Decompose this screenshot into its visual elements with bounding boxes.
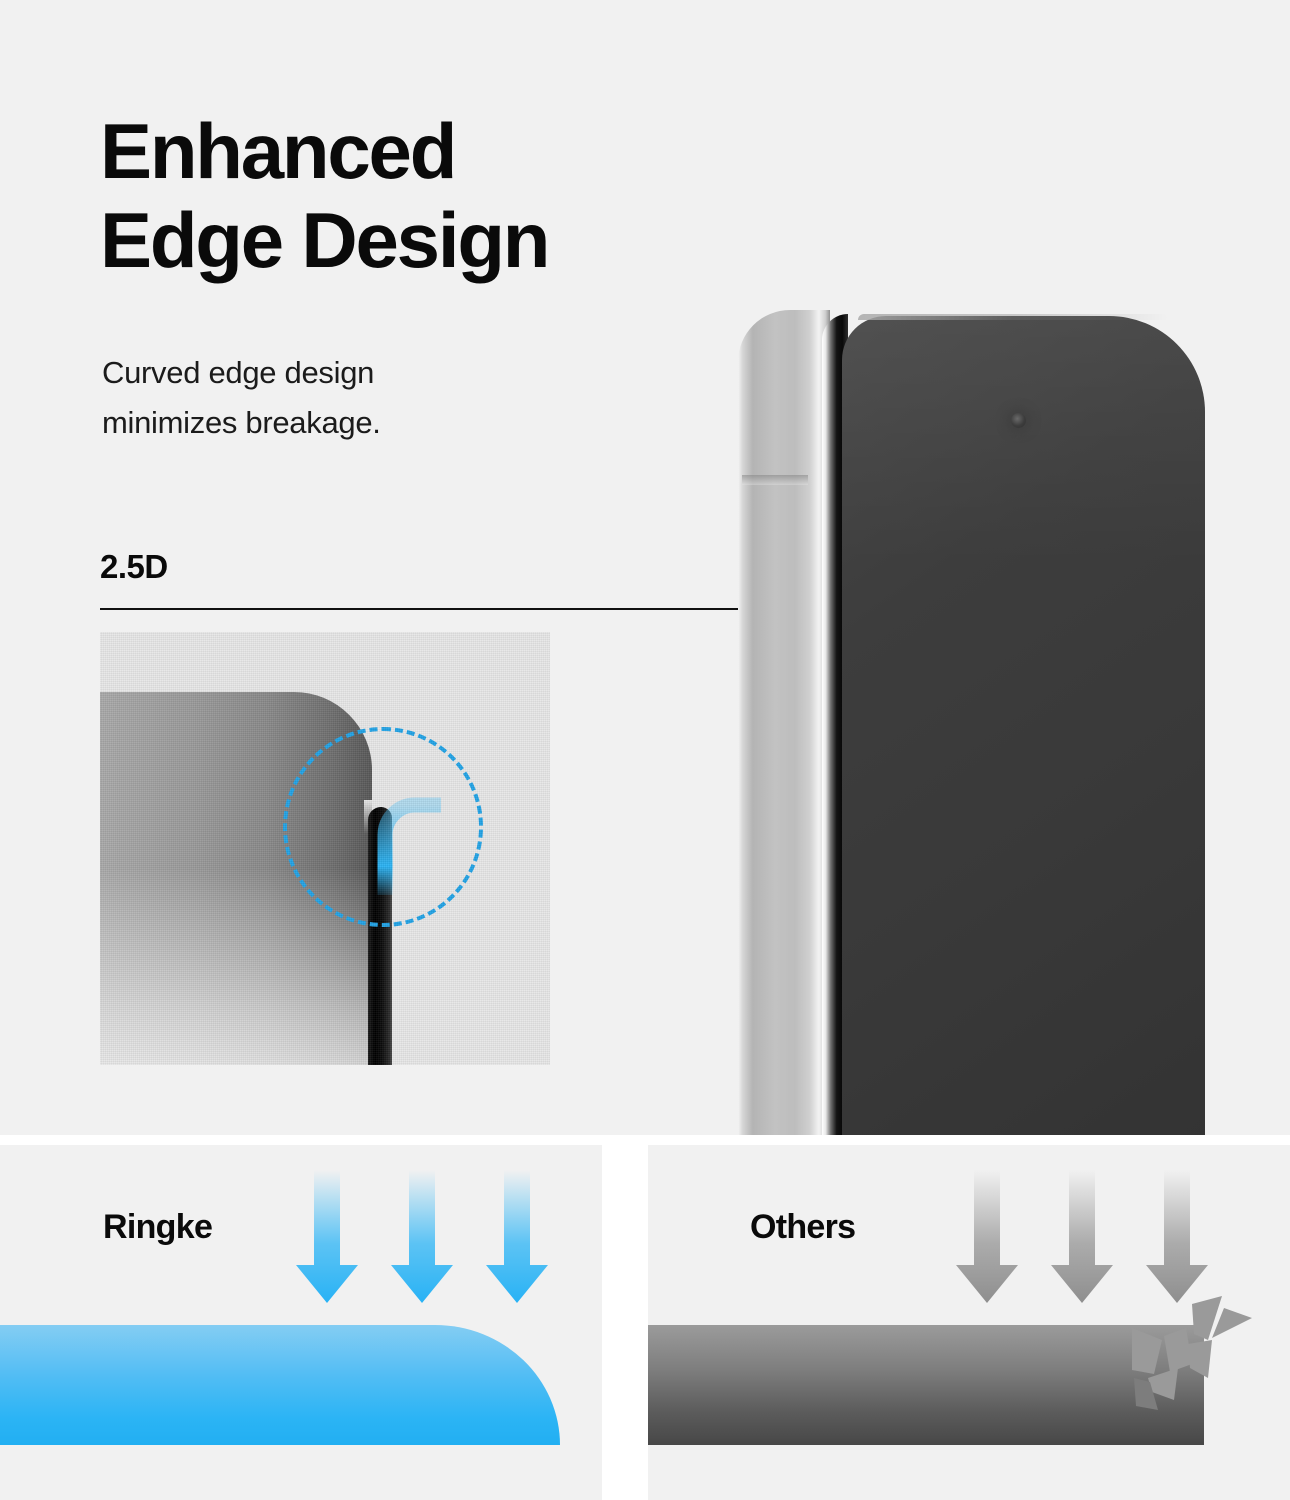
leader-line-icon bbox=[100, 608, 800, 610]
subheadline-line-1: Curved edge design bbox=[102, 348, 622, 398]
frame-antenna-band-icon bbox=[742, 475, 808, 485]
macro-edge-photo-icon bbox=[100, 632, 550, 1065]
headline-line-1: Enhanced bbox=[100, 107, 760, 196]
shattered-edge-icon bbox=[1128, 1282, 1288, 1432]
phone-metal-frame-icon bbox=[738, 310, 830, 1135]
callout-label-2-5d: 2.5D bbox=[100, 548, 168, 586]
phone-top-edge-icon bbox=[858, 314, 1168, 320]
phone-render bbox=[738, 300, 1208, 1135]
hero-panel: Enhanced Edge Design Curved edge design … bbox=[0, 0, 1290, 1135]
comparison-label-others: Others bbox=[750, 1208, 855, 1247]
comparison-label-ringke: Ringke bbox=[103, 1208, 212, 1247]
screen-gloss-icon bbox=[842, 316, 1205, 566]
curved-edge-protector-icon bbox=[0, 1325, 560, 1445]
flat-edge-protector-icon bbox=[648, 1325, 1204, 1445]
front-camera-punch-hole-icon bbox=[1011, 413, 1026, 428]
phone-dark-screen-icon bbox=[842, 316, 1205, 1135]
page-title: Enhanced Edge Design bbox=[100, 107, 760, 285]
subheadline-line-2: minimizes breakage. bbox=[102, 398, 622, 448]
impact-arrows-blue-icon bbox=[290, 1170, 550, 1305]
dashed-circle-highlight-icon bbox=[283, 727, 483, 927]
headline-line-2: Edge Design bbox=[100, 196, 760, 285]
subheadline: Curved edge design minimizes breakage. bbox=[102, 348, 622, 448]
